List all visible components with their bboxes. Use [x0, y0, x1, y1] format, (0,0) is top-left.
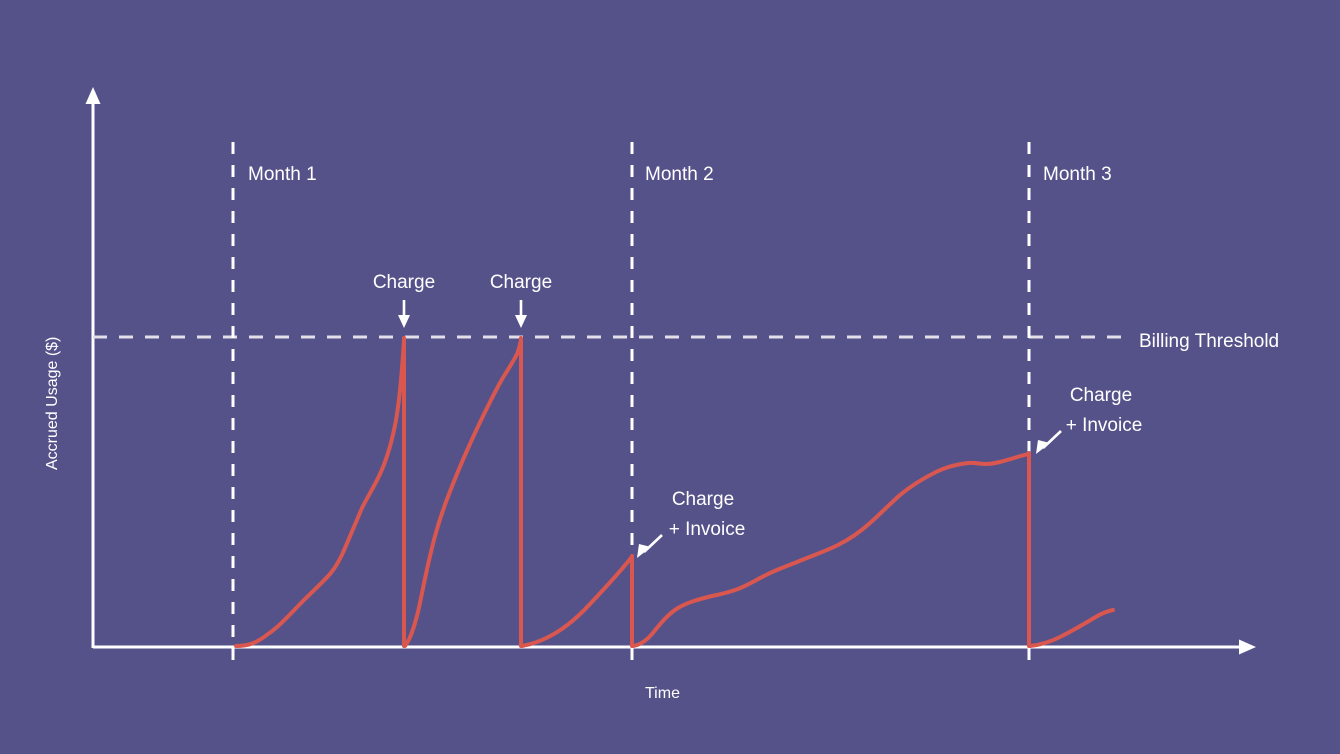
- usage-line-segment-2: [405, 340, 521, 646]
- annotation-charge-invoice-2: Charge + Invoice: [1036, 385, 1142, 454]
- chart-canvas: Accrued Usage ($) Time Billing Threshold…: [0, 0, 1340, 754]
- billing-usage-chart: Accrued Usage ($) Time Billing Threshold…: [0, 0, 1340, 754]
- diagonal-arrow-icon: [1036, 431, 1061, 454]
- month-1-label: Month 1: [248, 164, 317, 185]
- x-axis-label: Time: [645, 685, 680, 702]
- annotation-charge-invoice-2-line2: + Invoice: [1066, 415, 1143, 436]
- billing-threshold-label: Billing Threshold: [1139, 331, 1279, 352]
- usage-line-segment-4: [633, 454, 1028, 646]
- y-axis-label: Accrued Usage ($): [44, 337, 61, 470]
- y-axis: [86, 87, 101, 648]
- annotation-charge-1-label: Charge: [373, 272, 435, 293]
- annotation-charge-invoice-2-line1: Charge: [1070, 385, 1132, 406]
- down-arrow-icon: [398, 300, 410, 328]
- month-boundary-2: Month 2: [632, 142, 714, 660]
- annotation-charge-2-label: Charge: [490, 272, 552, 293]
- month-boundary-1: Month 1: [233, 142, 317, 660]
- usage-line-segment-3: [522, 558, 631, 646]
- annotation-charge-invoice-1-line1: Charge: [672, 489, 734, 510]
- diagonal-arrow-icon: [637, 535, 662, 558]
- month-3-label: Month 3: [1043, 164, 1112, 185]
- month-2-label: Month 2: [645, 164, 714, 185]
- down-arrow-icon: [515, 300, 527, 328]
- usage-line-segment-5: [1030, 610, 1113, 646]
- usage-line-segment-1: [236, 340, 404, 646]
- x-axis: [93, 640, 1256, 655]
- annotation-charge-1: Charge: [373, 272, 435, 328]
- annotation-charge-invoice-1: Charge + Invoice: [637, 489, 745, 558]
- annotation-charge-2: Charge: [490, 272, 552, 328]
- annotation-charge-invoice-1-line2: + Invoice: [669, 519, 746, 540]
